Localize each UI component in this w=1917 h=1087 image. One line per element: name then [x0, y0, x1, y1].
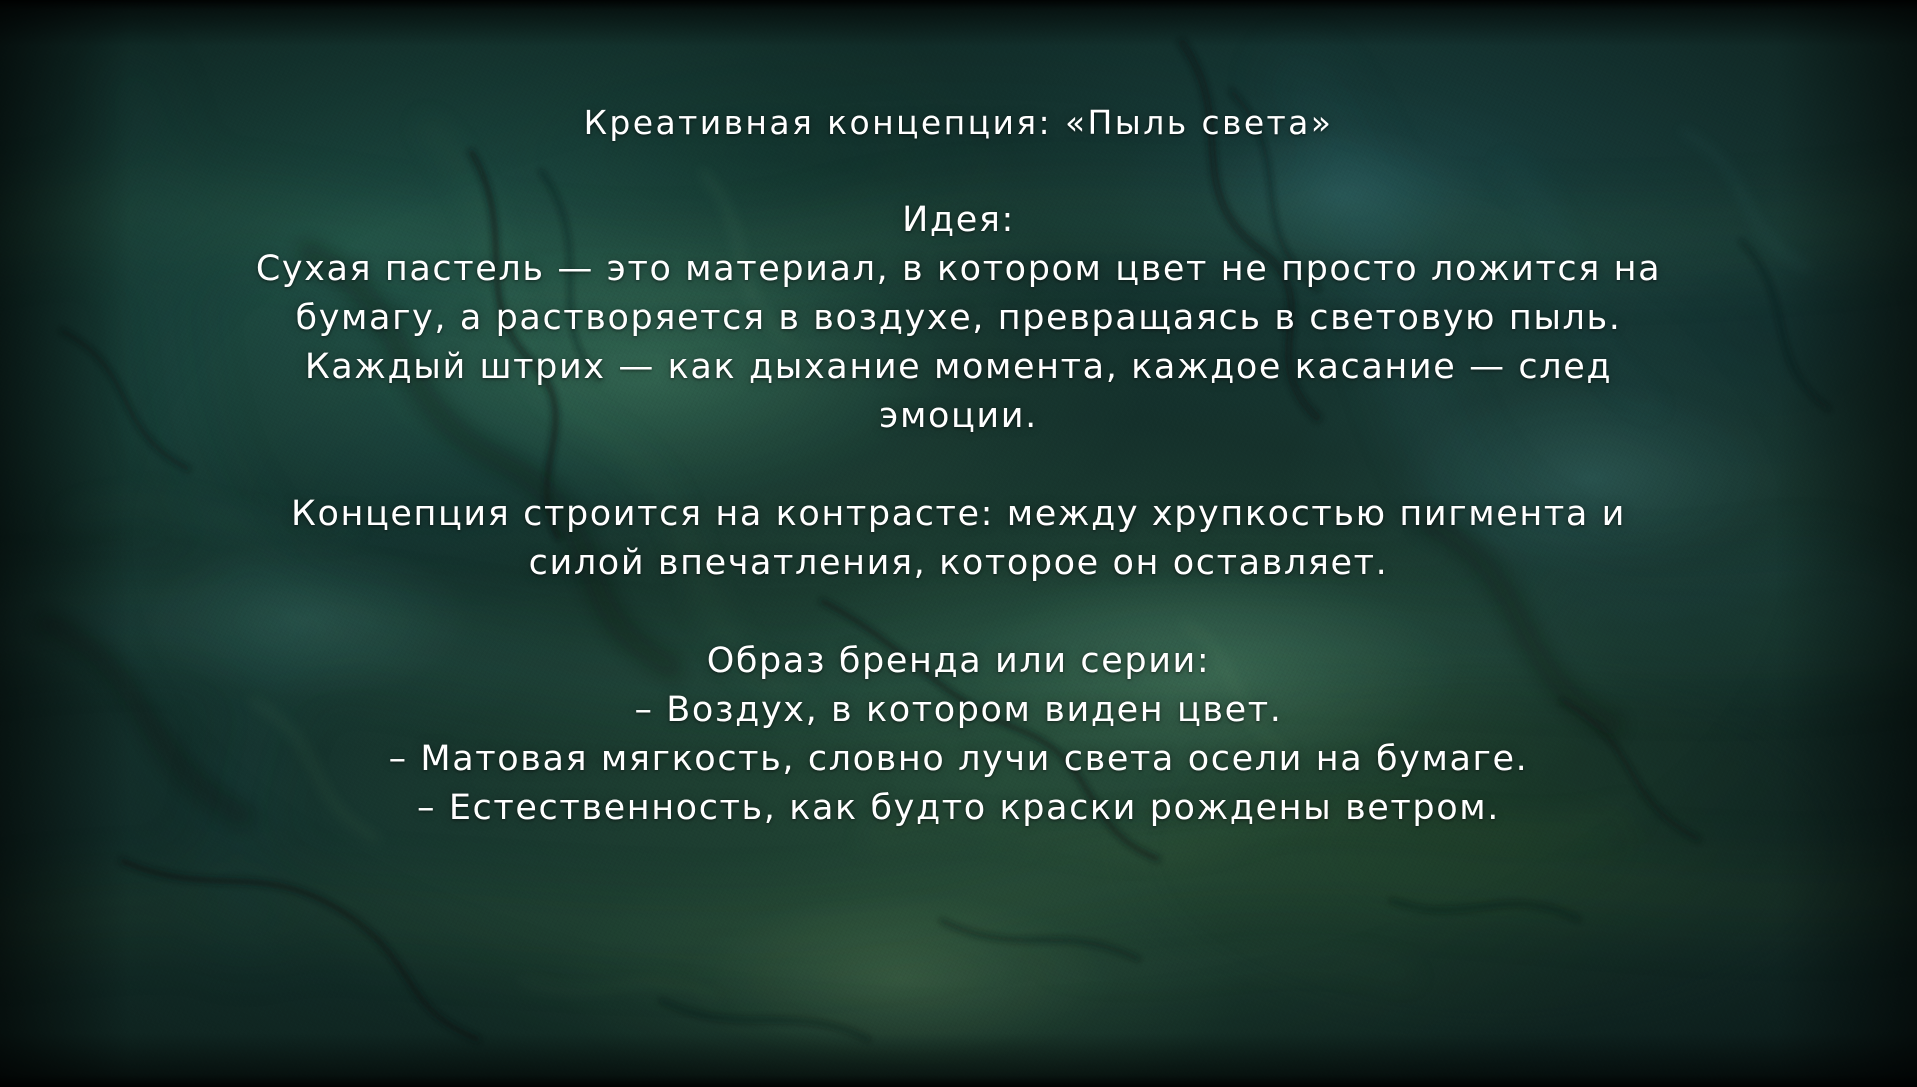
brand-image-bullet-3: – Естественность, как будто краски рожде…: [40, 784, 1877, 833]
idea-line-3: Каждый штрих — как дыхание момента, кажд…: [40, 343, 1877, 392]
spacer-after-title: [40, 147, 1877, 196]
idea-line-4: эмоции.: [40, 392, 1877, 441]
idea-line-1: Сухая пастель — это материал, в котором …: [40, 245, 1877, 294]
brand-image-bullet-1: – Воздух, в котором виден цвет.: [40, 686, 1877, 735]
brand-image-heading: Образ бренда или серии:: [40, 637, 1877, 686]
idea-line-2: бумагу, а растворяется в воздухе, превра…: [40, 294, 1877, 343]
concept-line-1: Концепция строится на контрасте: между х…: [40, 490, 1877, 539]
spacer-after-idea: [40, 441, 1877, 490]
slide-text-content: Креативная концепция: «Пыль света» Идея:…: [0, 98, 1917, 833]
presentation-slide: Креативная концепция: «Пыль света» Идея:…: [0, 0, 1917, 1087]
slide-title: Креативная концепция: «Пыль света»: [40, 98, 1877, 147]
spacer-after-concept: [40, 588, 1877, 637]
brand-image-bullet-2: – Матовая мягкость, словно лучи света ос…: [40, 735, 1877, 784]
concept-line-2: силой впечатления, которое он оставляет.: [40, 539, 1877, 588]
idea-heading: Идея:: [40, 196, 1877, 245]
